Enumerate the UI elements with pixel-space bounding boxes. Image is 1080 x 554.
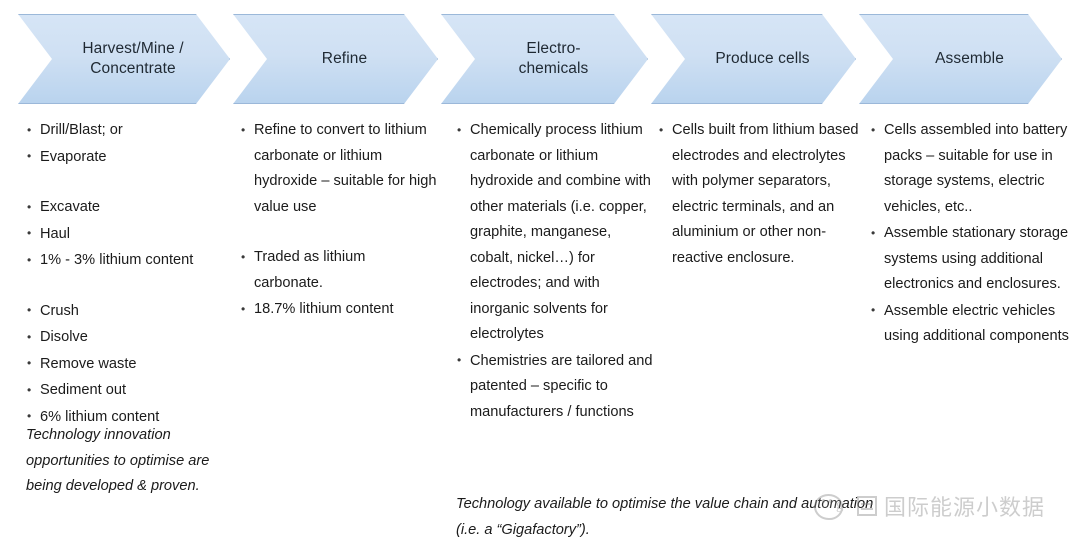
- process-step-refine[interactable]: Refine: [233, 14, 438, 104]
- bullet-item: 1% - 3% lithium content: [26, 248, 226, 274]
- detail-column-refine: Refine to convert to lithium carbonate o…: [240, 118, 438, 324]
- bullet-item: Traded as lithium carbonate.: [240, 245, 438, 296]
- bullet-list: Drill/Blast; orEvaporateExcavateHaul1% -…: [26, 118, 226, 430]
- detail-column-assemble: Cells assembled into battery packs – sui…: [870, 118, 1075, 351]
- process-step-label: Refine: [234, 49, 437, 69]
- bullet-item: Sediment out: [26, 378, 226, 404]
- process-step-harvest-mine-concentrate[interactable]: Harvest/Mine /Concentrate: [18, 14, 230, 104]
- process-step-produce-cells[interactable]: Produce cells: [651, 14, 856, 104]
- bullet-list: Cells built from lithium based electrode…: [658, 118, 868, 271]
- bullet-item: Haul: [26, 222, 226, 248]
- bullet-list: Chemically process lithium carbonate or …: [456, 118, 656, 425]
- process-step-label: Harvest/Mine /Concentrate: [19, 39, 229, 79]
- process-step-label: Produce cells: [652, 49, 855, 69]
- process-step-label: Assemble: [860, 49, 1061, 69]
- bullet-item: Evaporate: [26, 145, 226, 171]
- harvest-column-note: Technology innovation opportunities to o…: [26, 423, 226, 500]
- bullet-item: Chemistries are tailored and patented – …: [456, 349, 656, 426]
- bullet-list: Refine to convert to lithium carbonate o…: [240, 118, 438, 323]
- detail-column-harvest-mine-concentrate: Drill/Blast; orEvaporateExcavateHaul1% -…: [26, 118, 226, 431]
- detail-column-electro-chemicals: Chemically process lithium carbonate or …: [456, 118, 656, 426]
- bullet-item: Crush: [26, 299, 226, 325]
- process-step-label: Electro-chemicals: [442, 39, 647, 79]
- bullet-item: Cells built from lithium based electrode…: [658, 118, 868, 271]
- process-step-assemble[interactable]: Assemble: [859, 14, 1062, 104]
- detail-columns: Drill/Blast; orEvaporateExcavateHaul1% -…: [18, 118, 1068, 538]
- value-chain-automation-note: Technology available to optimise the val…: [456, 492, 886, 543]
- bullet-item: Drill/Blast; or: [26, 118, 226, 144]
- bullet-item: Excavate: [26, 195, 226, 221]
- bullet-item: Refine to convert to lithium carbonate o…: [240, 118, 438, 220]
- detail-column-produce-cells: Cells built from lithium based electrode…: [658, 118, 868, 272]
- bullet-item: Assemble electric vehicles using additio…: [870, 299, 1075, 350]
- bullet-item: Chemically process lithium carbonate or …: [456, 118, 656, 348]
- bullet-item: 18.7% lithium content: [240, 297, 438, 323]
- bullet-item: Assemble stationary storage systems usin…: [870, 221, 1075, 298]
- process-step-electro-chemicals[interactable]: Electro-chemicals: [441, 14, 648, 104]
- bullet-item: Remove waste: [26, 352, 226, 378]
- bullet-item: Cells assembled into battery packs – sui…: [870, 118, 1075, 220]
- bullet-list: Cells assembled into battery packs – sui…: [870, 118, 1075, 350]
- process-chevron-row: Harvest/Mine /Concentrate Refine Electro…: [18, 14, 1062, 104]
- bullet-item: Disolve: [26, 325, 226, 351]
